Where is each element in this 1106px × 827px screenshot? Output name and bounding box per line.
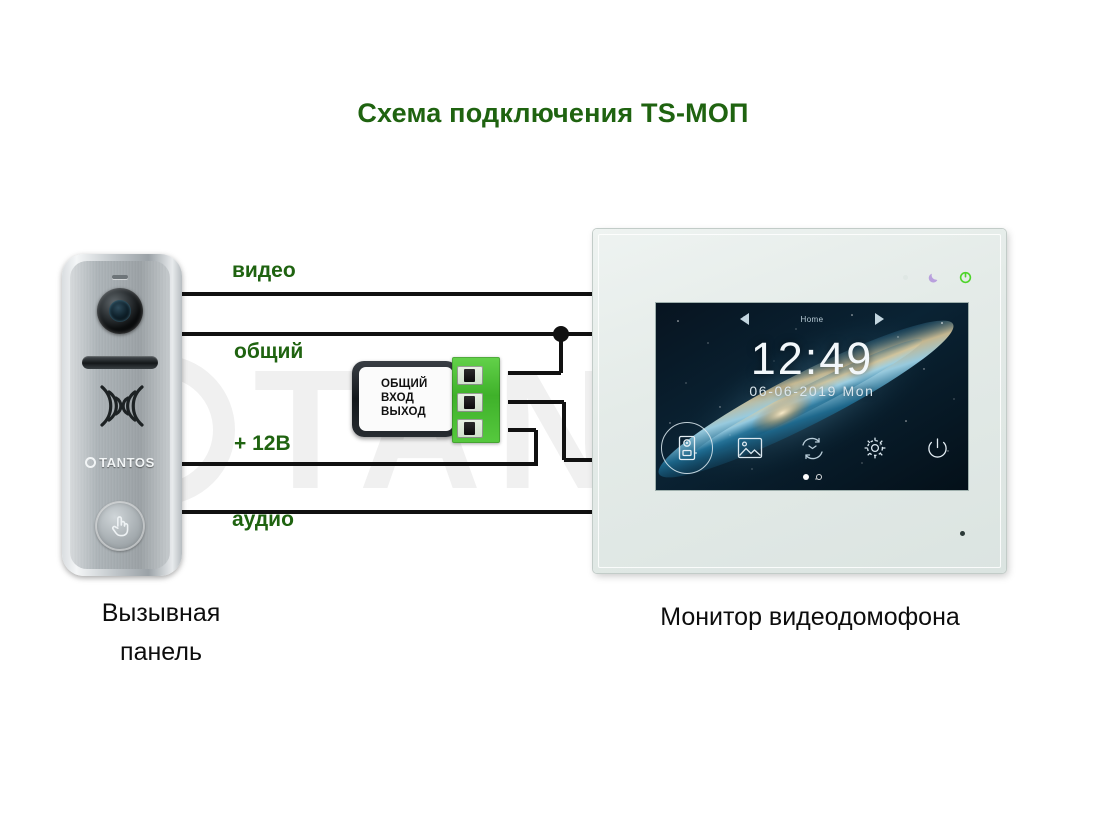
wire-label-audio: аудио — [232, 508, 294, 532]
call-panel: TANTOS — [62, 254, 182, 576]
call-button[interactable] — [95, 501, 145, 551]
power-led-green-icon — [959, 271, 972, 284]
settings-gear-icon[interactable] — [858, 431, 892, 465]
brand-name: TANTOS — [99, 455, 155, 470]
brand-mark-icon — [85, 457, 96, 468]
module-label: ОБЩИЙ ВХОД ВЫХОД — [359, 367, 453, 431]
terminal-common[interactable] — [457, 366, 483, 385]
page-title: Схема подключения TS-МОП — [0, 98, 1106, 129]
monitor-indicators — [903, 271, 972, 284]
power-icon[interactable] — [920, 431, 954, 465]
diagram-canvas: TANTOS Схема подключения TS-МОП ви — [0, 0, 1106, 827]
module-label-line-1: ОБЩИЙ — [381, 378, 453, 392]
indicator-dot-icon — [903, 275, 908, 280]
nav-next-arrow-icon[interactable] — [875, 313, 884, 325]
hand-press-icon — [107, 513, 133, 539]
gallery-icon[interactable] — [733, 431, 767, 465]
wire-label-video: видео — [232, 259, 296, 283]
door-panel-icon[interactable] — [670, 431, 704, 465]
speaker-waves-icon — [89, 385, 151, 427]
monitor-microphone-icon — [960, 531, 965, 536]
nav-home-label: Home — [801, 315, 824, 324]
junction-node — [553, 326, 569, 342]
terminal-block — [452, 357, 500, 443]
page-dot-1[interactable] — [803, 474, 809, 480]
module-label-line-2: ВХОД — [381, 392, 453, 406]
module-label-line-3: ВЫХОД — [381, 406, 453, 420]
brand-logo: TANTOS — [70, 455, 170, 470]
microphone-icon — [112, 275, 128, 279]
monitor-caption: Монитор видеодомофона — [600, 598, 1020, 637]
wire-label-common: общий — [234, 340, 303, 364]
screen-page-dots — [656, 474, 968, 480]
nav-prev-arrow-icon[interactable] — [740, 313, 749, 325]
screen-icon-row — [670, 425, 954, 471]
video-monitor: Home 12:49 06-06-2019 Mon — [593, 229, 1006, 573]
call-panel-caption-line-1: Вызывная — [46, 594, 276, 633]
ts-mop-module: ОБЩИЙ ВХОД ВЫХОД — [352, 357, 500, 443]
module-housing: ОБЩИЙ ВХОД ВЫХОД — [352, 361, 458, 437]
camera-lens-icon — [97, 288, 143, 334]
night-mode-moon-icon — [927, 271, 940, 284]
screen-nav: Home — [656, 311, 968, 327]
screen-clock: 12:49 — [656, 333, 968, 385]
call-panel-face: TANTOS — [70, 261, 170, 569]
ir-illuminator-icon — [82, 356, 158, 369]
page-dot-2[interactable] — [816, 474, 822, 480]
screen-date: 06-06-2019 Mon — [656, 383, 968, 399]
intercom-transfer-icon[interactable] — [795, 431, 829, 465]
wire-label-power: + 12В — [234, 432, 291, 456]
terminal-output[interactable] — [457, 419, 483, 438]
call-panel-caption-line-2: панель — [46, 633, 276, 672]
monitor-screen[interactable]: Home 12:49 06-06-2019 Mon — [656, 303, 968, 490]
terminal-input[interactable] — [457, 393, 483, 412]
call-panel-caption: Вызывная панель — [46, 594, 276, 672]
